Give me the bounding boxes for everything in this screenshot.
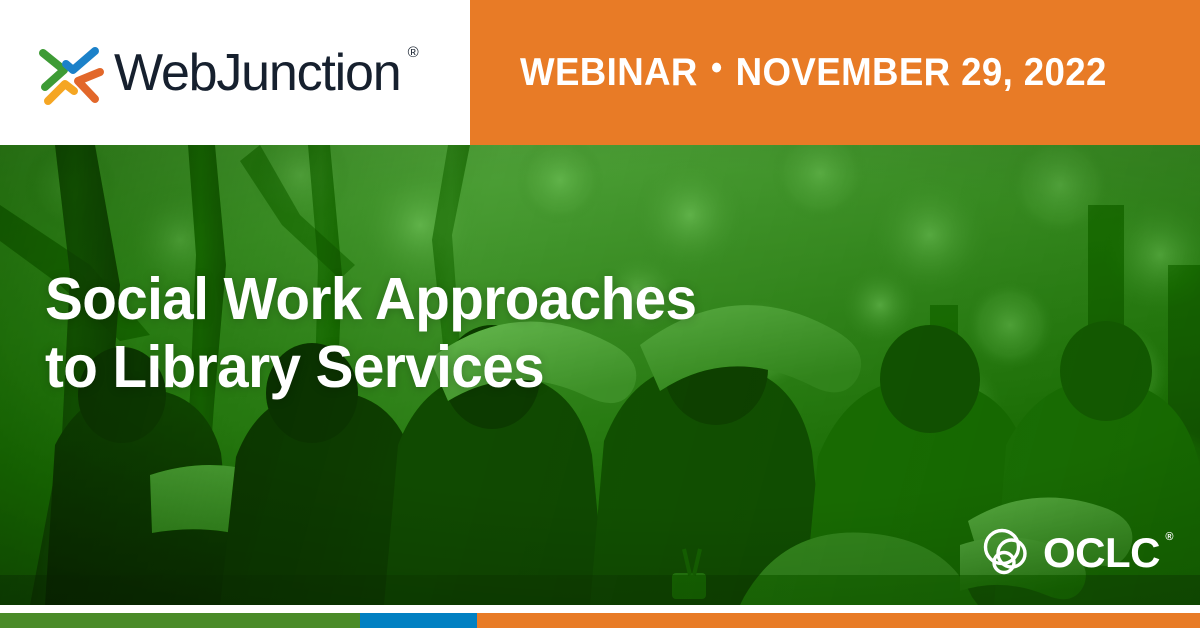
webjunction-wordmark-text: WebJunction <box>114 44 400 102</box>
bottom-color-bar <box>0 613 1200 628</box>
bottom-white-gap <box>0 605 1200 613</box>
event-date-label: NOVEMBER 29, 2022 <box>736 51 1107 95</box>
page-title: Social Work Approaches to Library Servic… <box>45 265 696 402</box>
oclc-registered-trademark-icon: ® <box>1165 532 1173 543</box>
event-type-label: WEBINAR <box>520 51 698 95</box>
webinar-promo-banner: WebJunction ® WEBINAR • NOVEMBER 29, 202… <box>0 0 1200 628</box>
oclc-logo[interactable]: OCLC ® <box>982 528 1160 578</box>
oclc-circles-logo-icon <box>982 528 1032 578</box>
webjunction-x-logo-icon <box>38 39 106 107</box>
oclc-wordmark: OCLC ® <box>1043 532 1160 574</box>
bottom-bar-segment-green <box>0 613 360 628</box>
webjunction-wordmark: WebJunction ® <box>114 47 400 99</box>
bullet-separator-icon: • <box>711 49 723 88</box>
event-banner-text: WEBINAR • NOVEMBER 29, 2022 <box>520 0 1107 145</box>
registered-trademark-icon: ® <box>408 45 418 60</box>
bottom-bar-segment-orange <box>477 613 1200 628</box>
oclc-wordmark-text: OCLC <box>1043 529 1160 576</box>
webjunction-logo-lockup[interactable]: WebJunction ® <box>38 39 400 107</box>
brand-logo-panel: WebJunction ® <box>0 0 470 145</box>
bottom-bar-segment-blue <box>360 613 477 628</box>
header-band: WebJunction ® WEBINAR • NOVEMBER 29, 202… <box>0 0 1200 145</box>
